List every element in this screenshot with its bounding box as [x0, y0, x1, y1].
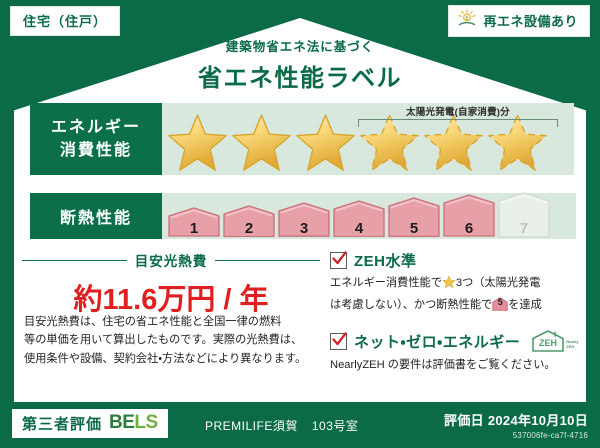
bels-logo: BELS: [109, 412, 158, 434]
bels-certification-box: 第三者評価 BELS: [12, 409, 168, 438]
zeh-standard-checkbox[interactable]: [330, 252, 347, 269]
zeh-divider: [330, 315, 580, 329]
energy-consumption-label: エネルギー 消費性能: [30, 103, 162, 175]
building-name: PREMILIFE須賀: [205, 419, 298, 433]
third-party-eval-label: 第三者評価: [22, 413, 102, 434]
insulation-label-text: 断熱性能: [60, 204, 132, 228]
evaluation-date-label: 評価日: [444, 413, 484, 428]
evaluation-info: 評価日 2024年10月10日 537006fe-ca7f-4716: [444, 410, 588, 440]
cost-rule-right: [215, 260, 320, 261]
net-zero-header: ネット・ゼロ・エネルギー ZEH Nearly ZEH: [330, 329, 580, 353]
cost-rule-left: [22, 260, 127, 261]
energy-consumption-row: エネルギー 消費性能 太陽光発電(自家消費)分: [30, 103, 574, 175]
bracket-line: [358, 119, 558, 127]
insulation-scale-area: 1234567: [162, 193, 576, 239]
net-zero-title: ネット・ゼロ・エネルギー: [354, 331, 520, 352]
star-filled: [294, 112, 357, 172]
zeh-logo-sub2: ZEH: [566, 345, 578, 349]
disclaimer-line-2: 等の単価を用いて算出したものです。実際の光熱費は、: [24, 331, 320, 349]
label-title: 建築物省エネ法に基づく 省エネ性能ラベル: [0, 36, 600, 93]
disclaimer-line-3: 使用条件や設備、契約会社・方法などにより異なります。: [24, 350, 320, 368]
renewable-equipment-badge: E 再エネ設備あり: [448, 5, 590, 37]
star-filled: [166, 112, 229, 172]
building-info: PREMILIFE須賀103号室: [205, 417, 358, 434]
energy-label-line2: 消費性能: [60, 139, 132, 162]
room-number: 103号室: [312, 419, 359, 433]
title-subtitle: 建築物省エネ法に基づく: [0, 36, 600, 55]
zeh-standard-title: ZEH水準: [354, 250, 417, 271]
cost-heading: 目安光熱費: [135, 250, 208, 270]
bels-logo-part2: LS: [134, 412, 157, 433]
disclaimer-line-1: 目安光熱費は、住宅の省エネ性能と全国一律の燃料: [24, 313, 320, 331]
insulation-row: 断熱性能 1234567: [30, 193, 576, 239]
insulation-badge-number: 5: [492, 297, 508, 311]
cost-value: 約11.6万円 / 年: [22, 276, 320, 318]
solar-share-bracket: 太陽光発電(自家消費)分: [358, 104, 558, 127]
insulation-level-scale: 1234567: [168, 192, 550, 241]
star-filled: [230, 112, 293, 172]
zeh-desc-part3: を達成: [508, 299, 542, 311]
zeh-section: ZEH水準 エネルギー消費性能で3つ（太陽光発電 は考慮しない）、かつ断熱性能で…: [330, 250, 580, 375]
net-zero-checkbox[interactable]: [330, 333, 347, 350]
insulation-badge-inline: 5: [492, 297, 508, 311]
evaluation-id: 537006fe-ca7f-4716: [444, 431, 588, 440]
zeh-standard-header: ZEH水準: [330, 250, 580, 271]
zeh-standard-description: エネルギー消費性能で3つ（太陽光発電 は考慮しない）、かつ断熱性能で5を達成: [330, 274, 580, 315]
insulation-level-active: 5: [388, 197, 440, 240]
net-zero-description: NearlyZEH の要件は評価書をご覧ください。: [330, 356, 580, 375]
evaluation-date-value: 2024年10月10日: [488, 413, 588, 428]
energy-label-line1: エネルギー: [51, 116, 141, 139]
energy-stars-area: 太陽光発電(自家消費)分: [162, 103, 574, 175]
insulation-level-active: 1: [168, 207, 220, 240]
house-type-tag: 住宅（住戸）: [10, 6, 120, 36]
cost-heading-row: 目安光熱費: [22, 250, 320, 270]
cost-disclaimer: 目安光熱費は、住宅の省エネ性能と全国一律の燃料 等の単価を用いて算出したものです…: [24, 313, 320, 368]
zeh-desc-part2: は考慮しない）、かつ断熱性能で: [330, 299, 492, 311]
insulation-level-active: 4: [333, 200, 385, 241]
svg-text:E: E: [466, 15, 469, 20]
insulation-level-active: 6: [443, 194, 495, 240]
energy-performance-label: 住宅（住戸） E 再エネ設備あり 建築物省エネ法に基づく 省エネ性能ラベル: [0, 0, 600, 448]
zeh-desc-stars: 3つ（太陽光発電: [456, 277, 541, 289]
evaluation-date-row: 評価日 2024年10月10日: [444, 410, 588, 429]
sun-icon: E: [457, 9, 477, 32]
insulation-level-active: 3: [278, 202, 330, 240]
renewable-badge-label: 再エネ設備あり: [483, 11, 578, 30]
label-footer: 第三者評価 BELS PREMILIFE須賀103号室 評価日 2024年10月…: [0, 402, 600, 448]
insulation-label: 断熱性能: [30, 193, 162, 239]
zeh-desc-part1: エネルギー消費性能で: [330, 277, 442, 289]
svg-text:ZEH: ZEH: [539, 338, 557, 348]
solar-bracket-label: 太陽光発電(自家消費)分: [358, 104, 558, 118]
title-main: 省エネ性能ラベル: [0, 58, 600, 93]
insulation-level-inactive: 7: [498, 192, 550, 241]
zeh-house-logo: ZEH Nearly ZEH: [531, 329, 578, 353]
estimated-utility-cost: 目安光熱費 約11.6万円 / 年: [22, 250, 320, 318]
bels-logo-part1: BE: [109, 412, 134, 433]
star-icon-inline: [442, 275, 456, 296]
insulation-level-active: 2: [223, 205, 275, 241]
